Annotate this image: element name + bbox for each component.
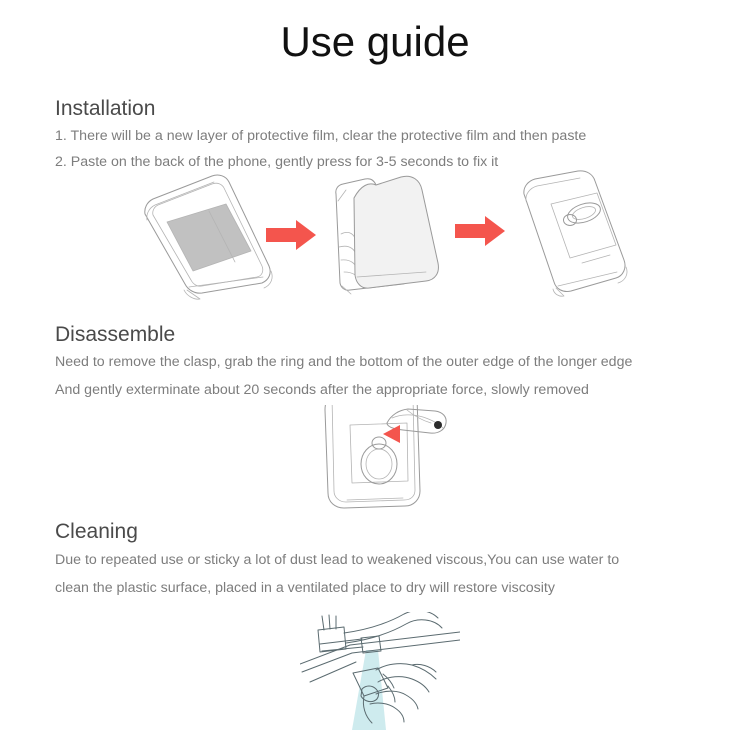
phone-with-protective-film	[145, 175, 272, 299]
installation-step-1: 1. There will be a new layer of protecti…	[55, 127, 586, 145]
disassemble-line-1: Need to remove the clasp, grab the ring …	[55, 353, 632, 371]
phone-with-ring-holder-attached	[524, 171, 627, 296]
section-heading-installation: Installation	[55, 96, 155, 122]
cleaning-line-1: Due to repeated use or sticky a lot of d…	[55, 551, 619, 569]
use-guide-page: Use guide Installation 1. There will be …	[0, 0, 750, 750]
cleaning-illustration	[300, 612, 460, 747]
arrow-right-icon-2	[455, 216, 505, 246]
phone-peeling-film	[336, 176, 439, 294]
ring-holder-ring	[361, 437, 397, 484]
cleaning-line-2: clean the plastic surface, placed in a v…	[55, 579, 555, 597]
arrow-right-icon-1	[266, 220, 316, 250]
installation-steps-illustration	[120, 168, 630, 303]
page-title: Use guide	[0, 16, 750, 68]
disassemble-line-2: And gently exterminate about 20 seconds …	[55, 381, 589, 399]
section-heading-disassemble: Disassemble	[55, 322, 175, 348]
ring-holder-ring	[564, 199, 603, 227]
disassemble-illustration	[295, 405, 470, 515]
section-heading-cleaning: Cleaning	[55, 519, 138, 545]
faucet	[318, 612, 442, 653]
phone-back-with-ring-holder	[325, 405, 420, 508]
